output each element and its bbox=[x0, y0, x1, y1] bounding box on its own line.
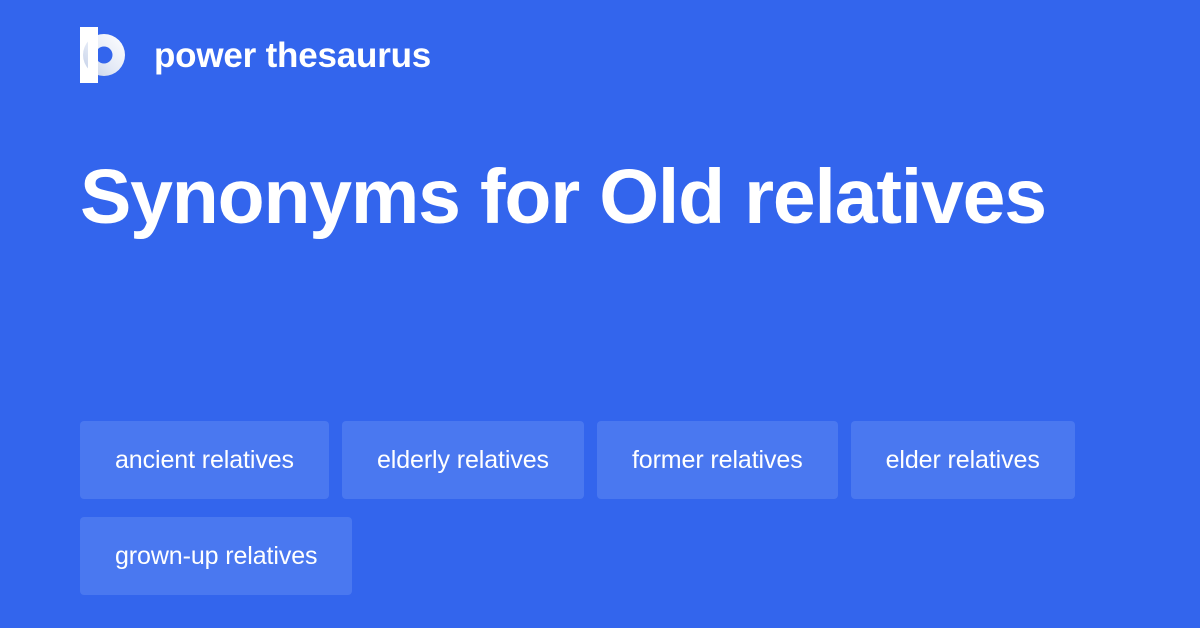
synonym-chip[interactable]: former relatives bbox=[597, 421, 838, 499]
synonym-chip[interactable]: ancient relatives bbox=[80, 421, 329, 499]
social-share-card: power thesaurus Synonyms for Old relativ… bbox=[0, 0, 1200, 628]
power-thesaurus-logo-icon bbox=[80, 27, 132, 83]
synonym-chip-list: ancient relatives elderly relatives form… bbox=[80, 421, 1140, 595]
brand-header[interactable]: power thesaurus bbox=[80, 27, 431, 83]
synonym-chip[interactable]: elderly relatives bbox=[342, 421, 584, 499]
synonym-chip[interactable]: grown-up relatives bbox=[80, 517, 352, 595]
synonym-chip[interactable]: elder relatives bbox=[851, 421, 1075, 499]
brand-name: power thesaurus bbox=[154, 38, 431, 73]
page-title: Synonyms for Old relatives bbox=[80, 140, 1080, 254]
